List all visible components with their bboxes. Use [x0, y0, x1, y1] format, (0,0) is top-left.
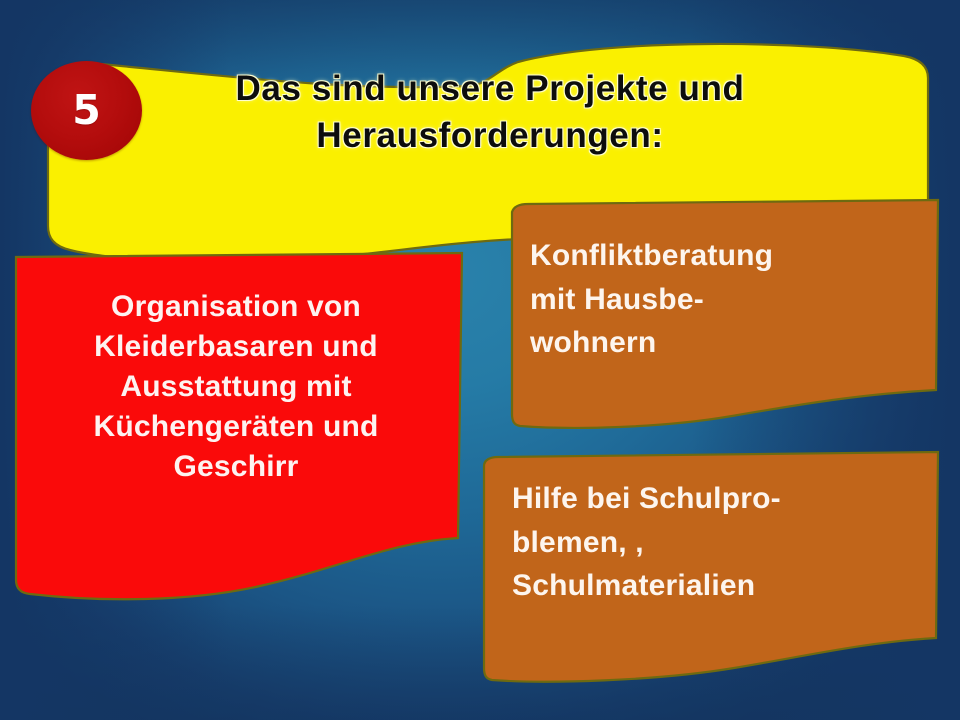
- card-konfliktberatung-line-2: mit Hausbe-: [530, 278, 930, 322]
- card-organisation-line-4: Küchengeräten und: [16, 407, 456, 447]
- step-number-label: 5: [72, 90, 101, 131]
- slide-title: Das sind unsere Projekte und Herausforde…: [140, 66, 840, 159]
- card-konfliktberatung-line-1: Konfliktberatung: [530, 234, 930, 278]
- card-organisation-line-3: Ausstattung mit: [16, 367, 456, 407]
- card-schulprobleme-line-3: Schulmaterialien: [512, 564, 932, 608]
- card-konfliktberatung-line-3: wohnern: [530, 321, 930, 365]
- card-organisation-line-5: Geschirr: [16, 447, 456, 487]
- card-schulprobleme-line-1: Hilfe bei Schulpro-: [512, 477, 932, 521]
- card-organisation-text: Organisation von Kleiderbasaren und Auss…: [16, 287, 456, 486]
- card-organisation-line-1: Organisation von: [16, 287, 456, 327]
- presentation-slide: 5 Das sind unsere Projekte und Herausfor…: [0, 0, 960, 720]
- card-schulprobleme-text: Hilfe bei Schulpro- blemen, , Schulmater…: [512, 477, 932, 608]
- title-banner-content: 5 Das sind unsere Projekte und Herausfor…: [0, 0, 880, 218]
- slide-title-line-2: Herausforderungen:: [140, 113, 840, 160]
- slide-title-line-1: Das sind unsere Projekte und: [140, 66, 840, 113]
- card-konfliktberatung-text: Konfliktberatung mit Hausbe- wohnern: [530, 234, 930, 365]
- step-number-badge: 5: [31, 61, 142, 160]
- card-schulprobleme-line-2: blemen, ,: [512, 521, 932, 565]
- card-organisation-line-2: Kleiderbasaren und: [16, 327, 456, 367]
